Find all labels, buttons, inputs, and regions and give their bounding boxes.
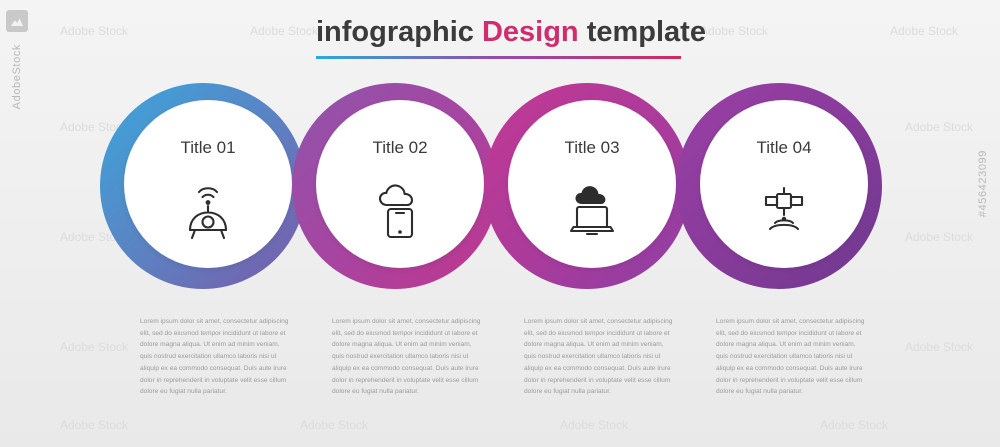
- watermark-tile: Adobe Stock: [60, 24, 128, 38]
- watermark-tile: Adobe Stock: [820, 418, 888, 432]
- step-2-title: Title 02: [300, 138, 500, 158]
- watermark-tile: Adobe Stock: [905, 340, 973, 354]
- watermark-right-text: #456423099: [977, 150, 989, 217]
- step-3-title: Title 03: [492, 138, 692, 158]
- title-word-template: template: [587, 16, 706, 48]
- step-1-title: Title 01: [108, 138, 308, 158]
- watermark-tile: Adobe Stock: [700, 24, 768, 38]
- page-title-block: infographic Design template: [316, 18, 706, 59]
- watermark-left-strip: AdobeStock: [0, 0, 34, 447]
- title-word-design: Design: [482, 16, 579, 48]
- step-4-title: Title 04: [684, 138, 884, 158]
- watermark-tile: Adobe Stock: [905, 120, 973, 134]
- watermark-tile: Adobe Stock: [60, 418, 128, 432]
- satellite-signal-icon: [744, 176, 824, 246]
- watermark-tile: Adobe Stock: [890, 24, 958, 38]
- watermark-tile: Adobe Stock: [250, 24, 318, 38]
- step-3-description: Lorem ipsum dolor sit amet, consectetur …: [524, 316, 674, 398]
- watermark-tile: Adobe Stock: [905, 230, 973, 244]
- title-underline-rule: [316, 56, 681, 59]
- adobe-stock-logo-icon: [6, 10, 28, 32]
- infographic-canvas: AdobeStock #456423099 Adobe Stock Adobe …: [0, 0, 1000, 447]
- laptop-cloud-icon: [552, 176, 632, 246]
- watermark-right-strip: #456423099: [966, 0, 1000, 447]
- step-4-description: Lorem ipsum dolor sit amet, consectetur …: [716, 316, 866, 398]
- watermark-tile: Adobe Stock: [560, 418, 628, 432]
- smartphone-cloud-icon: [360, 176, 440, 246]
- page-title: infographic Design template: [316, 18, 706, 47]
- step-1-description: Lorem ipsum dolor sit amet, consectetur …: [140, 316, 290, 398]
- watermark-tile: Adobe Stock: [60, 340, 128, 354]
- watermark-left-text: AdobeStock: [11, 44, 23, 109]
- title-word-infographic: infographic: [316, 16, 474, 48]
- step-2-description: Lorem ipsum dolor sit amet, consectetur …: [332, 316, 482, 398]
- robot-vacuum-wifi-icon: [168, 176, 248, 246]
- watermark-tile: Adobe Stock: [300, 418, 368, 432]
